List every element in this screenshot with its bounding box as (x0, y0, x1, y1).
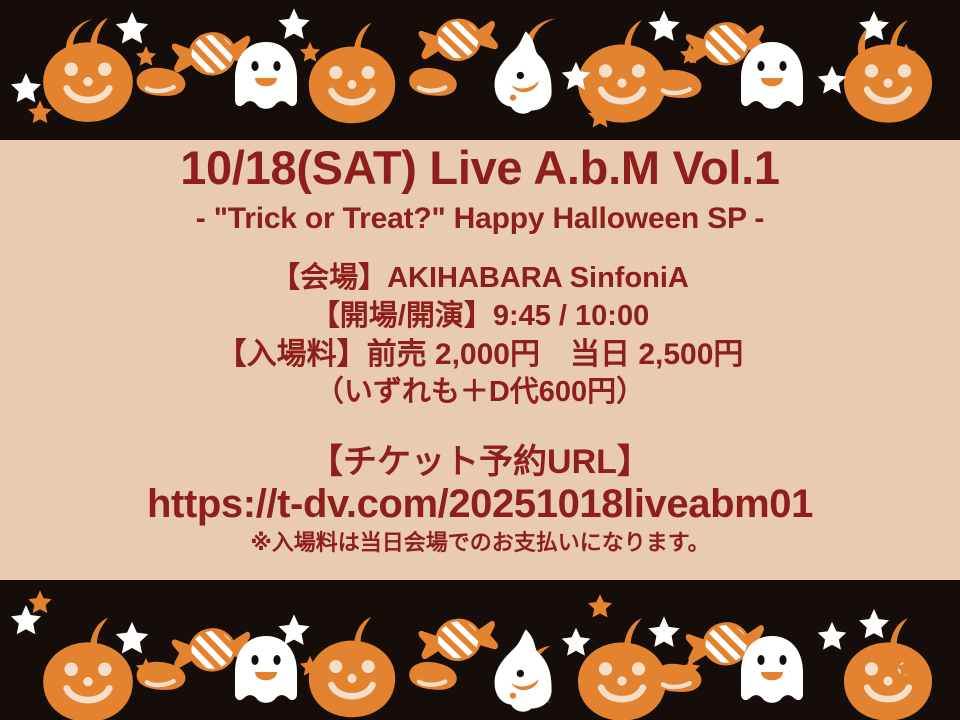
halloween-event-flyer: 10/18(SAT) Live A.b.M Vol.1 - "Trick or … (0, 0, 960, 720)
event-info-block: 【会場】AKIHABARA SinfoniA 【開場/開演】9:45 / 10:… (217, 260, 744, 412)
ticket-reservation-url[interactable]: https://t-dv.com/20251018liveabm01 (147, 482, 813, 528)
info-admission-fee: 【入場料】前売 2,000円 当日 2,500円 (217, 335, 744, 374)
event-subtitle: - "Trick or Treat?" Happy Halloween SP - (196, 202, 764, 235)
event-title: 10/18(SAT) Live A.b.M Vol.1 (180, 143, 780, 193)
info-drink-fee-note: （いずれも＋D代600円） (217, 374, 744, 412)
info-open-start-time: 【開場/開演】9:45 / 10:00 (217, 298, 744, 336)
ticket-url-label: 【チケット予約URL】 (147, 443, 813, 482)
ticket-block: 【チケット予約URL】 https://t-dv.com/20251018liv… (147, 443, 813, 556)
flyer-content: 10/18(SAT) Live A.b.M Vol.1 - "Trick or … (0, 0, 960, 720)
payment-note: ※入場料は当日会場でのお支払いになります。 (147, 530, 813, 556)
info-venue: 【会場】AKIHABARA SinfoniA (217, 260, 744, 298)
